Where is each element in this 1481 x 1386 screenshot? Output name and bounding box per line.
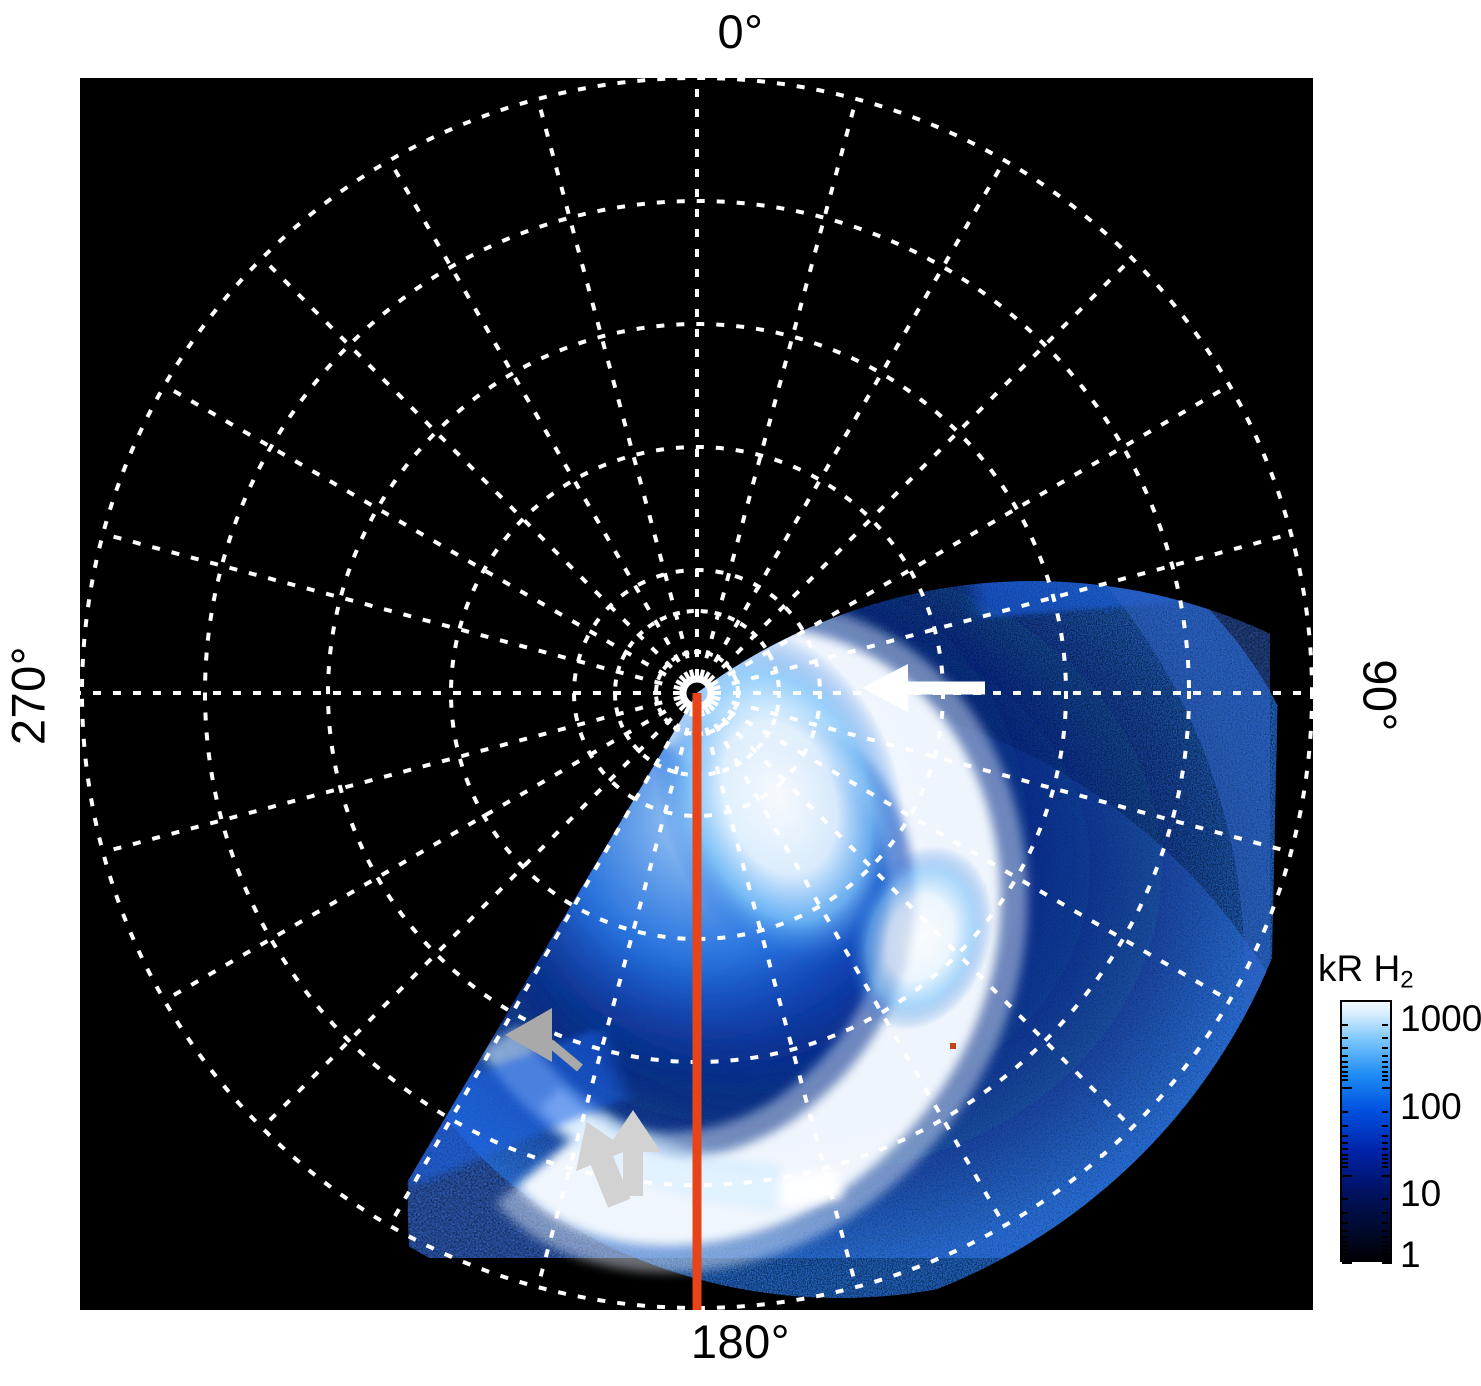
polar-plot-svg [80, 78, 1313, 1310]
axis-label-180deg: 180° [0, 1318, 1481, 1365]
colorbar: kR H2 [1318, 948, 1481, 1328]
colorbar-tick-label-1000: 1000 [1400, 1000, 1481, 1037]
colorbar-ticks-left [1342, 1000, 1352, 1262]
colorbar-tick-label-10: 10 [1400, 1175, 1441, 1212]
axis-label-90deg: 90° [1357, 606, 1404, 786]
colorbar-title-text: kR H [1318, 948, 1400, 989]
figure-canvas: 0° 90° 180° 270° kR H2 [0, 0, 1481, 1386]
colorbar-tick-label-1: 1 [1400, 1236, 1421, 1273]
axis-label-0deg: 0° [0, 8, 1481, 55]
colorbar-title-subscript: 2 [1400, 967, 1413, 994]
colorbar-ticks-right [1382, 1000, 1392, 1262]
colorbar-title: kR H2 [1318, 948, 1414, 995]
colorbar-tick-label-100: 100 [1400, 1088, 1462, 1125]
axis-label-270deg: 270° [5, 606, 52, 786]
hot-pixel-artifact [950, 1043, 956, 1049]
polar-plot-panel [80, 78, 1313, 1310]
